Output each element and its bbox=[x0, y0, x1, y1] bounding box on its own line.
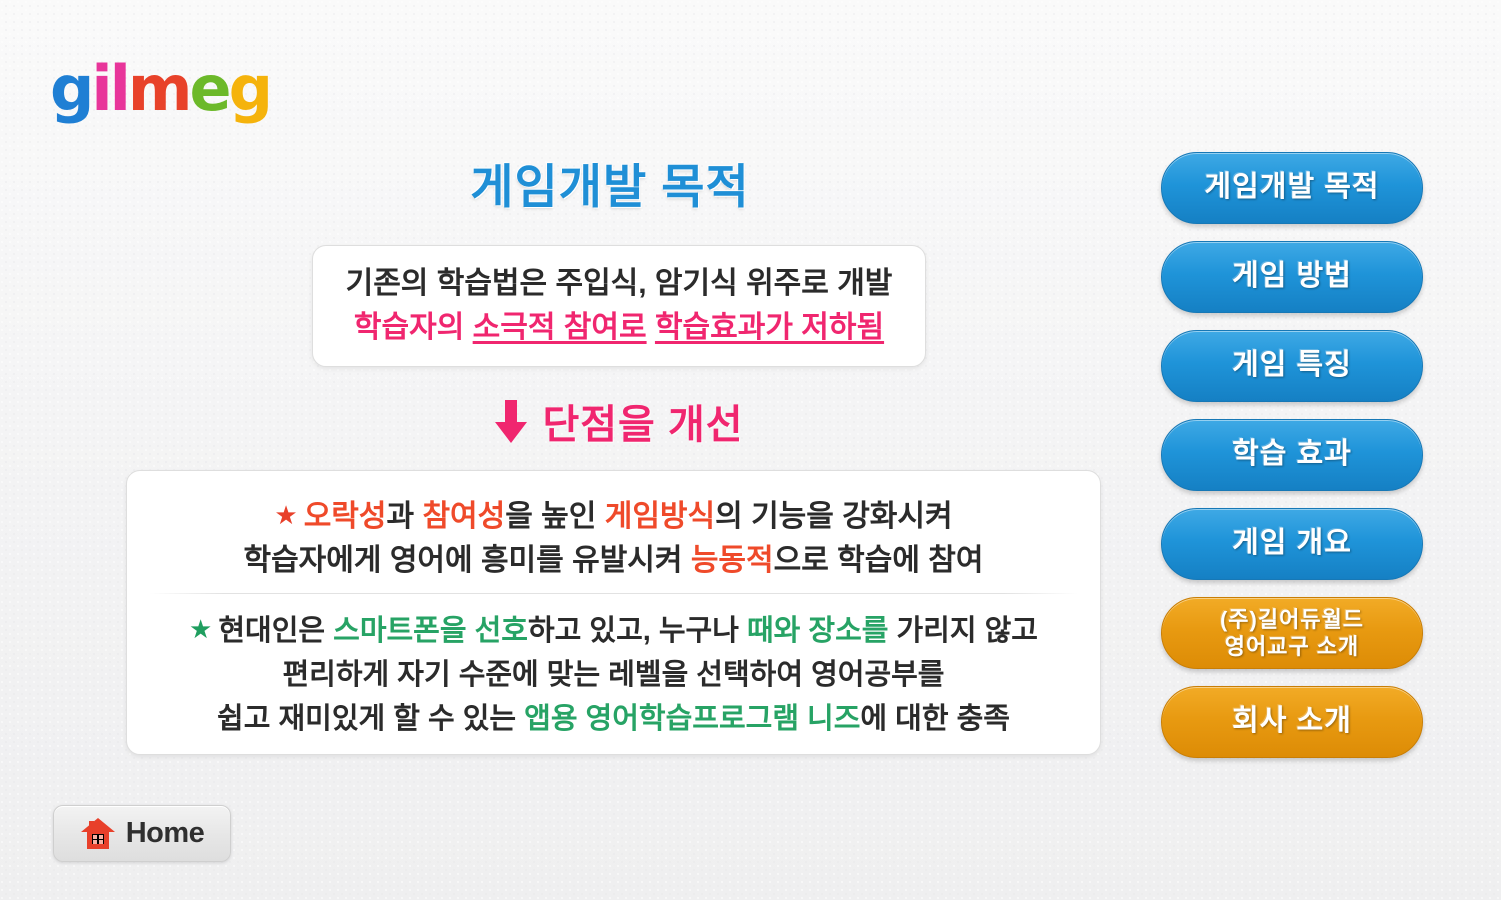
improvement-callout: 단점을 개선 bbox=[312, 392, 926, 450]
sidebar-item-label: 게임 방법 bbox=[1232, 260, 1352, 293]
brand-logo: gilmeg bbox=[50, 58, 270, 120]
section-divider bbox=[149, 593, 1078, 594]
logo-letter-g1: g bbox=[50, 58, 91, 120]
logo-letter-i: i bbox=[91, 58, 109, 120]
sidebar-item-label: 회사 소개 bbox=[1232, 705, 1352, 738]
sg2l2-s1: 편리하게 자기 수준에 맞는 레벨을 선택하여 영어공부를 bbox=[283, 659, 945, 691]
problem-line-2-gap bbox=[647, 311, 655, 344]
sidebar-item-label: 게임 개요 bbox=[1232, 527, 1352, 560]
page-title: 게임개발 목적 bbox=[250, 148, 970, 217]
sg1l1-s6: 의 기능을 강화시켜 bbox=[715, 500, 952, 533]
sg1l2-s1: 학습자에게 영어에 흥미를 유발시켜 bbox=[243, 544, 690, 577]
problem-line-2-underline-2: 학습효과가 저하됨 bbox=[655, 311, 884, 344]
sidebar-item-game-purpose[interactable]: 게임개발 목적 bbox=[1161, 152, 1423, 224]
sg2l1-s4: 때와 장소를 bbox=[747, 615, 888, 647]
sg2l1-s3: 하고 있고, 누구나 bbox=[528, 615, 747, 647]
problem-line-1: 기존의 학습법은 주입식, 암기식 위주로 개발 bbox=[313, 262, 925, 306]
sg1l1-s1: 오락성 bbox=[304, 500, 387, 533]
green-star-icon: ★ bbox=[189, 607, 212, 651]
sidebar-item-label: 학습 효과 bbox=[1232, 438, 1352, 471]
sg2l1-s2: 스마트폰을 선호 bbox=[333, 615, 528, 647]
sg1l1-s3: 참여성 bbox=[422, 500, 505, 533]
sidebar-item-gileduworld-products[interactable]: (주)길어듀월드 영어교구 소개 bbox=[1161, 597, 1423, 669]
improvement-label: 단점을 개선 bbox=[542, 403, 743, 447]
problem-line-2-underline-1: 소극적 참여로 bbox=[473, 311, 647, 344]
sidebar-item-game-method[interactable]: 게임 방법 bbox=[1161, 241, 1423, 313]
sg1l2-s3: 으로 학습에 참여 bbox=[774, 544, 984, 577]
home-button[interactable]: Home bbox=[53, 805, 231, 862]
sg1l2-s2: 능동적 bbox=[691, 544, 774, 577]
sg2l1-s5: 가리지 않고 bbox=[888, 615, 1038, 647]
solution-g2-line-1: ★현대인은 스마트폰을 선호하고 있고, 누구나 때와 장소를 가리지 않고 bbox=[127, 607, 1100, 653]
sg1l1-s5: 게임방식 bbox=[605, 500, 715, 533]
sg2l1-s1: 현대인은 bbox=[218, 615, 333, 647]
sidebar-item-learning-effect[interactable]: 학습 효과 bbox=[1161, 419, 1423, 491]
sidebar-item-label: 게임 특징 bbox=[1232, 349, 1352, 382]
sg2l3-s2: 앱용 영어학습프로그램 니즈 bbox=[524, 703, 860, 735]
sg2l3-s3: 에 대한 충족 bbox=[860, 703, 1010, 735]
home-button-label: Home bbox=[126, 817, 205, 850]
solution-g1-line-2: 학습자에게 영어에 흥미를 유발시켜 능동적으로 학습에 참여 bbox=[127, 539, 1100, 583]
problem-statement-box: 기존의 학습법은 주입식, 암기식 위주로 개발 학습자의 소극적 참여로 학습… bbox=[312, 245, 926, 367]
house-icon bbox=[80, 817, 116, 851]
sidebar-item-game-overview[interactable]: 게임 개요 bbox=[1161, 508, 1423, 580]
sidebar-nav: 게임개발 목적 게임 방법 게임 특징 학습 효과 게임 개요 (주)길어듀월드… bbox=[1161, 152, 1423, 775]
logo-letter-g2: g bbox=[229, 58, 270, 120]
logo-letter-e: e bbox=[190, 58, 229, 120]
sg1l1-s4: 을 높인 bbox=[505, 500, 604, 533]
down-arrow-icon bbox=[494, 400, 528, 449]
logo-letter-l: l bbox=[110, 58, 128, 120]
sidebar-item-game-features[interactable]: 게임 특징 bbox=[1161, 330, 1423, 402]
sg2l3-s1: 쉽고 재미있게 할 수 있는 bbox=[217, 703, 524, 735]
problem-line-2-lead: 학습자의 bbox=[354, 311, 473, 344]
red-star-icon: ★ bbox=[274, 493, 297, 537]
sidebar-item-label: (주)길어듀월드 영어교구 소개 bbox=[1220, 606, 1364, 661]
sidebar-item-company-intro[interactable]: 회사 소개 bbox=[1161, 686, 1423, 758]
logo-letter-m: m bbox=[128, 58, 190, 120]
solution-g2-line-2: 편리하게 자기 수준에 맞는 레벨을 선택하여 영어공부를 bbox=[127, 653, 1100, 697]
solution-statement-box: ★오락성과 참여성을 높인 게임방식의 기능을 강화시켜 학습자에게 영어에 흥… bbox=[126, 470, 1101, 755]
solution-g2-line-3: 쉽고 재미있게 할 수 있는 앱용 영어학습프로그램 니즈에 대한 충족 bbox=[127, 697, 1100, 741]
sg1l1-s2: 과 bbox=[387, 500, 423, 533]
problem-line-2: 학습자의 소극적 참여로 학습효과가 저하됨 bbox=[313, 306, 925, 350]
sidebar-item-label: 게임개발 목적 bbox=[1204, 171, 1379, 204]
solution-g1-line-1: ★오락성과 참여성을 높인 게임방식의 기능을 강화시켜 bbox=[127, 493, 1100, 539]
